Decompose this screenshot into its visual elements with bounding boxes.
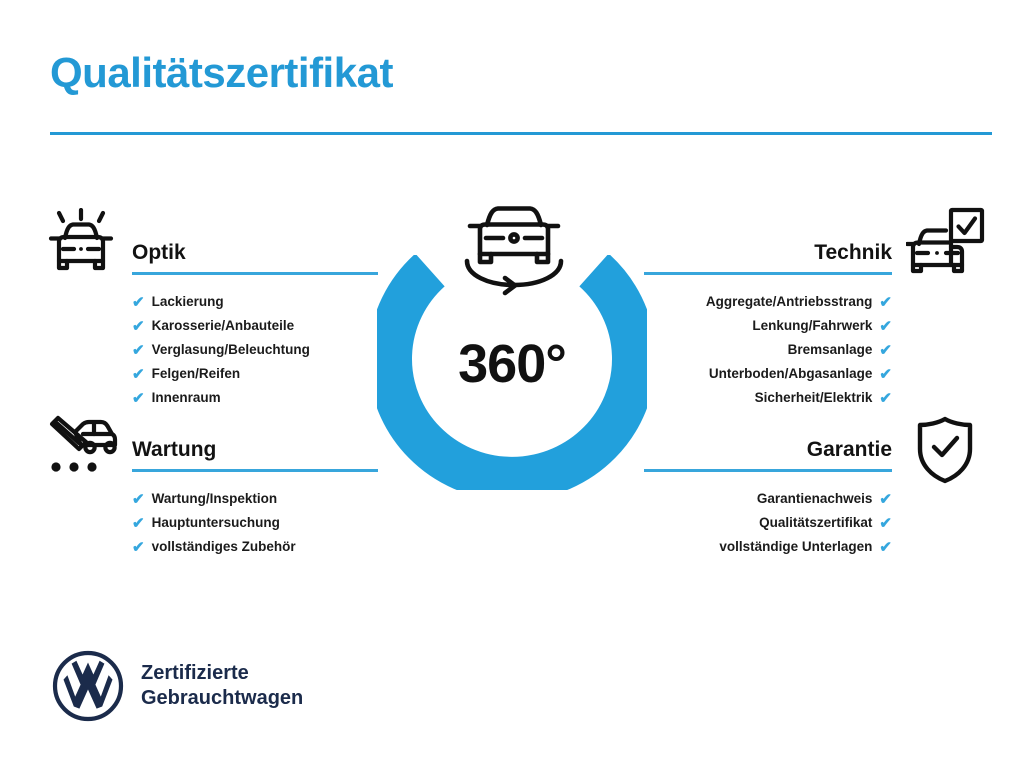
section-optik-title: Optik	[132, 238, 378, 268]
check-icon: ✔	[132, 540, 145, 555]
check-icon: ✔	[879, 391, 892, 406]
page-title: Qualitätszertifikat	[50, 50, 393, 96]
check-list-item: Qualitätszertifikat✔	[644, 511, 892, 535]
check-list-item: vollständige Unterlagen✔	[644, 535, 892, 559]
section-garantie: Garantie Garantienachweis✔Qualitätszerti…	[644, 435, 892, 559]
check-icon: ✔	[879, 367, 892, 382]
shield-check-icon	[914, 415, 976, 490]
check-list-item: ✔Innenraum	[132, 386, 378, 410]
check-icon: ✔	[879, 492, 892, 507]
check-list-item: Aggregate/Antriebsstrang✔	[644, 290, 892, 314]
vw-certified-logo: Zertifizierte Gebrauchtwagen	[52, 650, 303, 722]
check-list-item-label: Hauptuntersuchung	[152, 511, 280, 535]
car-on-lift-icon	[46, 414, 118, 481]
title-divider	[50, 132, 992, 135]
badge-degree-label: 360°	[377, 337, 647, 391]
check-icon: ✔	[132, 343, 145, 358]
check-list-item: ✔Lackierung	[132, 290, 378, 314]
check-list-item: Unterboden/Abgasanlage✔	[644, 362, 892, 386]
check-icon: ✔	[132, 367, 145, 382]
section-technik-list: Aggregate/Antriebsstrang✔Lenkung/Fahrwer…	[644, 290, 892, 410]
check-list-item-label: Bremsanlage	[788, 338, 873, 362]
check-list-item-label: Felgen/Reifen	[152, 362, 241, 386]
section-wartung-list: ✔Wartung/Inspektion✔Hauptuntersuchung✔vo…	[132, 487, 378, 559]
section-wartung-head: Wartung	[132, 435, 378, 473]
check-list-item-label: Wartung/Inspektion	[152, 487, 278, 511]
section-wartung-title: Wartung	[132, 435, 378, 465]
section-garantie-head: Garantie	[644, 435, 892, 473]
check-list-item: ✔vollständiges Zubehör	[132, 535, 378, 559]
section-optik-list: ✔Lackierung✔Karosserie/Anbauteile✔Vergla…	[132, 290, 378, 410]
check-list-item: ✔Verglasung/Beleuchtung	[132, 338, 378, 362]
check-icon: ✔	[879, 295, 892, 310]
check-list-item: ✔Wartung/Inspektion	[132, 487, 378, 511]
check-icon: ✔	[132, 391, 145, 406]
check-list-item-label: Lenkung/Fahrwerk	[752, 314, 872, 338]
car-front-headlights-icon	[46, 208, 116, 283]
check-icon: ✔	[132, 295, 145, 310]
check-list-item-label: Aggregate/Antriebsstrang	[706, 290, 873, 314]
section-garantie-divider	[644, 469, 892, 472]
section-optik: Optik ✔Lackierung✔Karosserie/Anbauteile✔…	[132, 238, 378, 410]
check-list-item: Bremsanlage✔	[644, 338, 892, 362]
check-list-item-label: Sicherheit/Elektrik	[755, 386, 873, 410]
section-wartung: Wartung ✔Wartung/Inspektion✔Hauptuntersu…	[132, 435, 378, 559]
check-icon: ✔	[132, 516, 145, 531]
car-rotation-360-icon	[455, 199, 573, 302]
section-optik-divider	[132, 272, 378, 275]
vw-roundel-icon	[52, 650, 124, 722]
check-list-item: Lenkung/Fahrwerk✔	[644, 314, 892, 338]
car-checkbox-icon	[906, 206, 986, 281]
check-list-item: Sicherheit/Elektrik✔	[644, 386, 892, 410]
check-list-item: ✔Hauptuntersuchung	[132, 511, 378, 535]
vw-logo-text: Zertifizierte Gebrauchtwagen	[141, 661, 303, 711]
certificate-page: Qualitätszertifikat	[0, 0, 1024, 768]
check-list-item-label: Karosserie/Anbauteile	[152, 314, 295, 338]
check-list-item-label: Unterboden/Abgasanlage	[709, 362, 873, 386]
check-list-item-label: vollständige Unterlagen	[719, 535, 872, 559]
check-icon: ✔	[879, 540, 892, 555]
check-list-item-label: Qualitätszertifikat	[759, 511, 872, 535]
section-wartung-divider	[132, 469, 378, 472]
check-list-item-label: Verglasung/Beleuchtung	[152, 338, 310, 362]
check-icon: ✔	[132, 319, 145, 334]
check-list-item: ✔Karosserie/Anbauteile	[132, 314, 378, 338]
check-icon: ✔	[879, 319, 892, 334]
check-icon: ✔	[879, 516, 892, 531]
vw-logo-line1: Zertifizierte	[141, 661, 303, 686]
section-technik-head: Technik	[644, 238, 892, 276]
check-list-item: ✔Felgen/Reifen	[132, 362, 378, 386]
check-icon: ✔	[879, 343, 892, 358]
section-garantie-list: Garantienachweis✔Qualitätszertifikat✔vol…	[644, 487, 892, 559]
check-list-item-label: Innenraum	[152, 386, 221, 410]
section-technik-divider	[644, 272, 892, 275]
check-list-item-label: Lackierung	[152, 290, 224, 314]
section-garantie-title: Garantie	[644, 435, 892, 465]
check-list-item-label: vollständiges Zubehör	[152, 535, 296, 559]
vw-logo-line2: Gebrauchtwagen	[141, 686, 303, 711]
check-list-item: Garantienachweis✔	[644, 487, 892, 511]
section-technik-title: Technik	[644, 238, 892, 268]
section-technik: Technik Aggregate/Antriebsstrang✔Lenkung…	[644, 238, 892, 410]
check-list-item-label: Garantienachweis	[757, 487, 873, 511]
check-icon: ✔	[132, 492, 145, 507]
section-optik-head: Optik	[132, 238, 378, 276]
